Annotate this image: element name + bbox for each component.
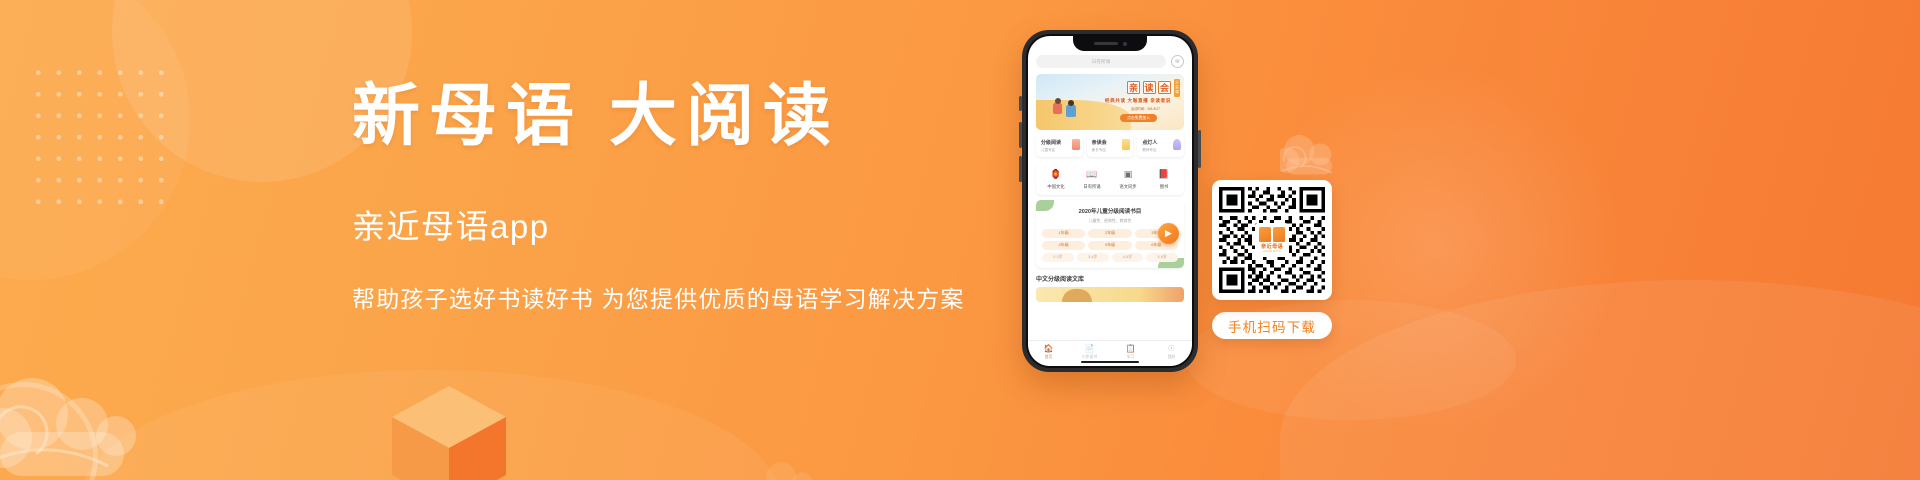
age-button[interactable]: 0-3岁	[1042, 253, 1074, 262]
book-ribbon-icon	[1072, 139, 1080, 150]
video-play-icon[interactable]: ▶	[1158, 223, 1179, 244]
clipboard-icon: 📋	[1110, 344, 1151, 354]
qr-block: 亲近母语 QINJIN MUYU 手机扫码下载	[1212, 180, 1332, 339]
book-open-icon: 📖	[1086, 168, 1099, 181]
decor-hill-left	[80, 370, 780, 480]
app-content: 日有所诵 ✉ 亲 读 会 公益课 经典共读	[1028, 36, 1192, 302]
app-name-subtitle: 亲近母语app	[352, 200, 1012, 248]
description-text: 帮助孩子选好书读好书 为您提供优质的母语学习解决方案	[352, 280, 1012, 314]
phone-screen: 日有所诵 ✉ 亲 读 会 公益课 经典共读	[1028, 36, 1192, 366]
hero-title-char: 会	[1158, 81, 1171, 94]
logo-title: 亲近母语	[1261, 243, 1283, 250]
zone-card-parent-club[interactable]: 亲读会 家长专区	[1087, 135, 1134, 157]
qr-center-logo: 亲近母语 QINJIN MUYU	[1255, 223, 1289, 257]
message-icon[interactable]: ✉	[1171, 55, 1184, 68]
grade-button[interactable]: 4年级	[1042, 241, 1085, 250]
app-search-row: 日有所诵 ✉	[1036, 55, 1184, 68]
tab-study[interactable]: 📋 学习	[1110, 344, 1151, 360]
library-title: 中文分级阅读文库	[1036, 274, 1184, 283]
quick-link-label: 日有所诵	[1074, 184, 1110, 190]
person-icon	[1173, 139, 1181, 150]
decor-child-one	[1053, 102, 1062, 114]
zone-cards: 分级阅读 儿童专区 亲读会 家长专区 点灯人 教师专区	[1036, 135, 1184, 157]
booklist-subtitle: 儿童性、经典性、教育性	[1042, 218, 1178, 224]
decor-cloud-right	[1908, 380, 1920, 454]
camera-icon	[1123, 42, 1127, 46]
circle-square-icon: ▣	[1122, 168, 1135, 181]
home-indicator	[1081, 361, 1139, 364]
quick-link-label: 图书	[1146, 184, 1182, 190]
tab-label: 我的	[1151, 355, 1192, 360]
phone-volume-up-button	[1019, 122, 1022, 148]
zone-card-teacher[interactable]: 点灯人 教师专区	[1137, 135, 1184, 157]
tab-label: 首页	[1028, 355, 1069, 360]
lantern-icon: 🏮	[1050, 168, 1063, 181]
hero-title-char: 读	[1143, 81, 1156, 94]
tab-profile[interactable]: ☉ 我的	[1151, 344, 1192, 360]
hero-cta-button[interactable]: 点击免费加入	[1120, 114, 1157, 122]
zone-card-graded-reading[interactable]: 分级阅读 儿童专区	[1036, 135, 1083, 157]
quick-link-textbook-sync[interactable]: ▣ 语文同步	[1110, 168, 1146, 190]
hero-title: 亲 读 会	[1127, 81, 1171, 94]
decor-dot-grid	[28, 62, 164, 210]
library-banner[interactable]	[1036, 287, 1184, 302]
speaker-icon	[1094, 42, 1118, 45]
tab-label: 小步读书	[1069, 355, 1110, 360]
phone-volume-down-button	[1019, 156, 1022, 182]
promo-banner: 新母语 大阅读 亲近母语app 帮助孩子选好书读好书 为您提供优质的母语学习解决…	[0, 0, 1920, 480]
reader-icon: 📄	[1069, 344, 1110, 354]
book-logo-icon	[1259, 227, 1285, 242]
decor-ring	[0, 382, 98, 480]
decor-cloud-center	[760, 455, 857, 480]
grade-button[interactable]: 1年级	[1042, 229, 1085, 238]
quick-link-label: 中国文化	[1038, 184, 1074, 190]
age-button[interactable]: 4-5岁	[1112, 253, 1144, 262]
book-icon: 📕	[1158, 168, 1171, 181]
booklist-title: 2020年儿童分级阅读书目	[1042, 207, 1178, 215]
decor-cloud-middle-right	[1280, 130, 1368, 180]
booklist-card: 2020年儿童分级阅读书目 儿童性、经典性、教育性 1年级 2年级 3年级 4年…	[1036, 200, 1184, 268]
decor-cube	[390, 384, 508, 480]
hero-date: 活动时间：9/6-9/27	[1131, 106, 1160, 111]
user-icon: ☉	[1151, 344, 1192, 354]
quick-link-daily-recitation[interactable]: 📖 日有所诵	[1074, 168, 1110, 190]
decor-dome	[1062, 289, 1092, 302]
phone-power-button	[1198, 130, 1201, 168]
search-input[interactable]: 日有所诵	[1036, 55, 1166, 68]
decor-child-two	[1066, 104, 1076, 117]
hero-banner[interactable]: 亲 读 会 公益课 经典共读 大咖直播 亲读者说 活动时间：9/6-9/27 点…	[1036, 74, 1184, 130]
hero-subtitle: 经典共读 大咖直播 亲读者说	[1105, 98, 1171, 104]
logo-subtitle: QINJIN MUYU	[1263, 250, 1281, 253]
age-buttons: 0-3岁 3-4岁 4-5岁 5-6岁	[1042, 253, 1178, 262]
tab-reading[interactable]: 📄 小步读书	[1069, 344, 1110, 360]
book-page-icon	[1122, 139, 1130, 150]
qr-card: 亲近母语 QINJIN MUYU	[1212, 180, 1332, 300]
tab-label: 学习	[1110, 355, 1151, 360]
age-button[interactable]: 3-4岁	[1077, 253, 1109, 262]
phone-mute-switch	[1019, 96, 1022, 111]
age-button[interactable]: 5-6岁	[1146, 253, 1178, 262]
hero-ribbon: 公益课	[1174, 79, 1180, 97]
grade-button[interactable]: 2年级	[1088, 229, 1131, 238]
phone-notch	[1073, 36, 1147, 51]
tab-home[interactable]: 🏠 首页	[1028, 344, 1069, 360]
quick-links: 🏮 中国文化 📖 日有所诵 ▣ 语文同步 📕	[1036, 162, 1184, 195]
quick-link-label: 语文同步	[1110, 184, 1146, 190]
phone-mockup: 日有所诵 ✉ 亲 读 会 公益课 经典共读	[1022, 30, 1198, 372]
quick-link-chinese-culture[interactable]: 🏮 中国文化	[1038, 168, 1074, 190]
hero-title-char: 亲	[1127, 81, 1140, 94]
decor-sand	[1036, 100, 1131, 130]
decor-cloud-bottom-left	[0, 366, 196, 480]
decor-hill-right	[1280, 280, 1920, 480]
copy-block: 新母语 大阅读 亲近母语app 帮助孩子选好书读好书 为您提供优质的母语学习解决…	[352, 78, 1012, 314]
decor-circle-left	[0, 0, 190, 280]
grade-button[interactable]: 5年级	[1088, 241, 1131, 250]
download-button[interactable]: 手机扫码下载	[1212, 312, 1332, 339]
quick-link-books[interactable]: 📕 图书	[1146, 168, 1182, 190]
home-icon: 🏠	[1028, 344, 1069, 354]
page-title: 新母语 大阅读	[352, 78, 1012, 154]
phone-bezel: 日有所诵 ✉ 亲 读 会 公益课 经典共读	[1026, 34, 1194, 368]
